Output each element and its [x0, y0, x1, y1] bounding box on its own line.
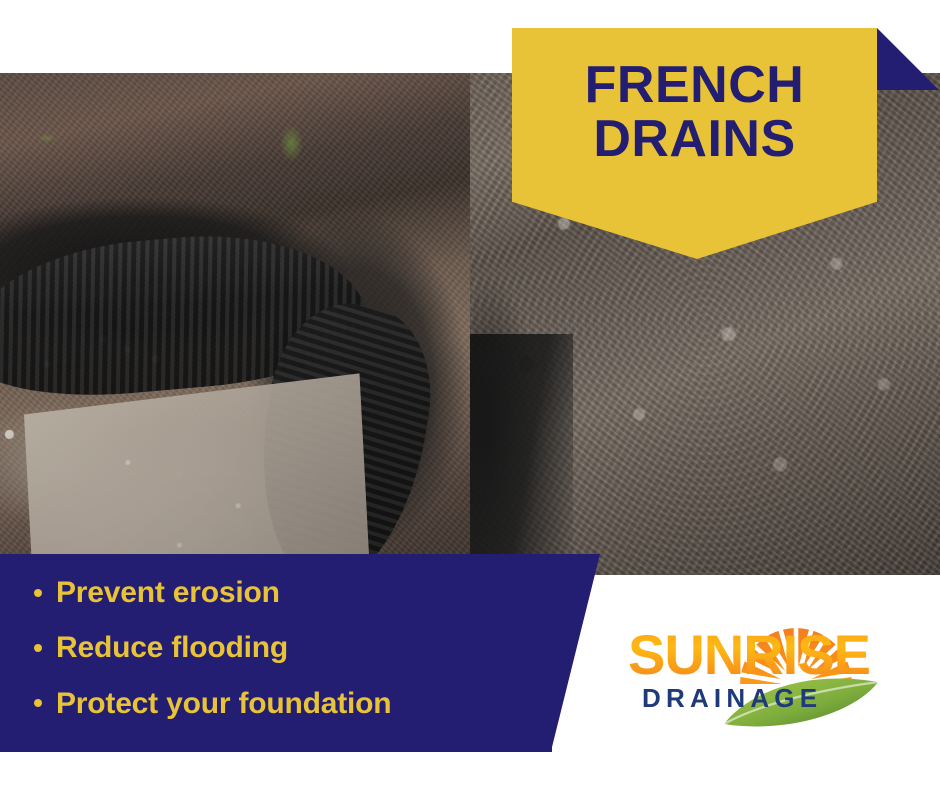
list-item: Reduce flooding	[34, 630, 504, 665]
benefit-label: Protect your foundation	[56, 686, 391, 721]
title-banner: FRENCH DRAINS	[512, 28, 877, 259]
logo-svg: SUNRISE DRAINAGE	[620, 612, 905, 727]
banner-title: FRENCH DRAINS	[512, 58, 877, 166]
benefit-label: Prevent erosion	[56, 575, 280, 610]
marketing-graphic: FRENCH DRAINS Prevent erosion Reduce flo…	[0, 0, 940, 788]
french-drain-trench-photo	[0, 73, 470, 575]
logo-secondary-word: DRAINAGE	[642, 683, 822, 713]
trench-shadow-shape	[470, 334, 573, 575]
bullet-dot-icon	[34, 699, 42, 707]
logo-primary-word: SUNRISE	[628, 623, 870, 686]
bullet-dot-icon	[34, 644, 42, 652]
banner-title-line-1: FRENCH	[512, 58, 877, 112]
list-item: Prevent erosion	[34, 575, 504, 610]
banner-title-line-2: DRAINS	[512, 112, 877, 166]
list-item: Protect your foundation	[34, 686, 504, 721]
benefits-list: Prevent erosion Reduce flooding Protect …	[34, 575, 504, 721]
sunrise-drainage-logo: SUNRISE DRAINAGE	[620, 612, 905, 727]
concrete-slab-shape	[24, 374, 370, 575]
benefit-label: Reduce flooding	[56, 630, 288, 665]
bullet-dot-icon	[34, 589, 42, 597]
